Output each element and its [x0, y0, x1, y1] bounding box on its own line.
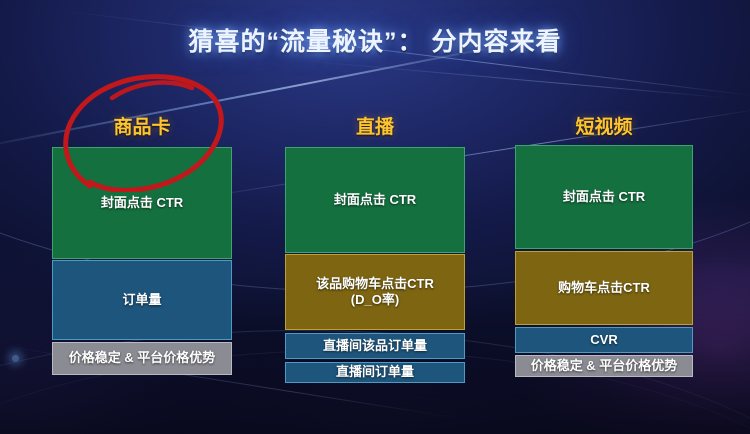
- metric-box-room-orders[interactable]: 直播间订单量: [285, 362, 465, 383]
- metric-box-cover-ctr[interactable]: 封面点击 CTR: [515, 145, 693, 249]
- metric-box-cover-ctr[interactable]: 封面点击 CTR: [52, 147, 232, 259]
- metric-label: 直播间该品订单量: [323, 338, 427, 354]
- column-header-short-video: 短视频: [515, 112, 693, 139]
- metric-label: 直播间订单量: [336, 364, 414, 380]
- metric-box-price-advantage[interactable]: 价格稳定 & 平台价格优势: [52, 342, 232, 375]
- metric-label: 价格稳定 & 平台价格优势: [69, 350, 216, 366]
- column-short-video: 短视频 封面点击 CTR 购物车点击CTR CVR 价格稳定 & 平台价格优势: [515, 112, 693, 378]
- metric-box-cart-click-ctr[interactable]: 该品购物车点击CTR (D_O率): [285, 254, 465, 330]
- slide-canvas: 猜喜的“流量秘诀”： 分内容来看 商品卡 封面点击 CTR 订单量 价格稳定 &…: [0, 0, 750, 434]
- page-title: 猜喜的“流量秘诀”： 分内容来看: [0, 22, 750, 58]
- metric-label: 封面点击 CTR: [101, 195, 183, 211]
- metric-box-cvr[interactable]: CVR: [515, 327, 693, 353]
- metric-label-group: 该品购物车点击CTR (D_O率): [316, 276, 434, 309]
- metric-box-price-advantage[interactable]: 价格稳定 & 平台价格优势: [515, 355, 693, 377]
- column-livestream: 直播 封面点击 CTR 该品购物车点击CTR (D_O率) 直播间该品订单量 直…: [285, 112, 465, 384]
- metric-box-order-volume[interactable]: 订单量: [52, 260, 232, 340]
- metric-box-room-product-orders[interactable]: 直播间该品订单量: [285, 333, 465, 359]
- metric-sublabel: (D_O率): [316, 292, 434, 308]
- column-header-livestream: 直播: [285, 112, 465, 139]
- metric-label: 封面点击 CTR: [563, 189, 645, 205]
- column-header-product-card: 商品卡: [52, 112, 232, 139]
- column-product-card: 商品卡 封面点击 CTR 订单量 价格稳定 & 平台价格优势: [52, 112, 232, 378]
- metric-label: 封面点击 CTR: [334, 192, 416, 208]
- metric-label: 订单量: [122, 292, 161, 308]
- metric-label: CVR: [590, 332, 617, 348]
- metric-box-cover-ctr[interactable]: 封面点击 CTR: [285, 147, 465, 253]
- metric-box-cart-click-ctr[interactable]: 购物车点击CTR: [515, 251, 693, 325]
- metric-label: 价格稳定 & 平台价格优势: [531, 358, 678, 374]
- metric-label: 该品购物车点击CTR: [316, 276, 434, 291]
- metric-label: 购物车点击CTR: [558, 280, 650, 296]
